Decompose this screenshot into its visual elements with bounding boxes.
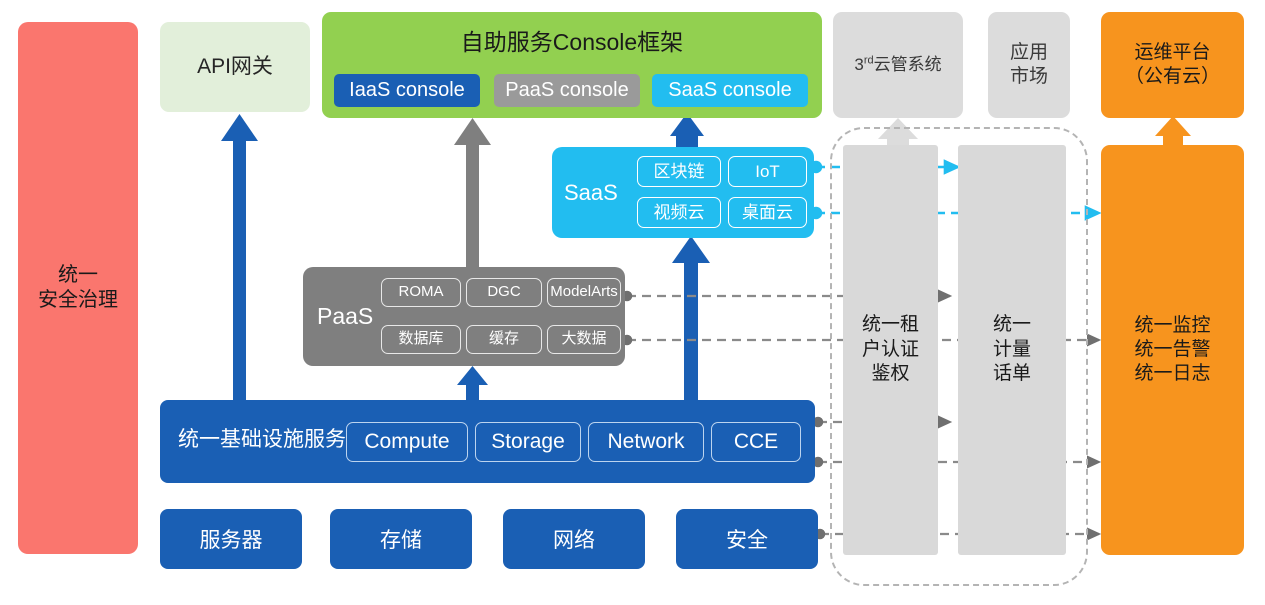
paas-layer-box[interactable]: PaaS ROMA DGC ModelArts 数据库 缓存 大数据 bbox=[303, 267, 625, 366]
infrastructure-layer-label: 统一基础设施服务 bbox=[178, 427, 346, 453]
infra-chip-cce-label: CCE bbox=[734, 429, 778, 455]
ops-platform-box[interactable]: 运维平台 （公有云） bbox=[1101, 12, 1244, 118]
arrow-infra-to-api-gateway bbox=[221, 114, 258, 400]
paas-chip-modelarts-label: ModelArts bbox=[550, 283, 618, 302]
infra-chip-network[interactable]: Network bbox=[588, 422, 704, 462]
saas-chip-desktop-cloud-label: 桌面云 bbox=[742, 202, 793, 223]
infra-chip-compute[interactable]: Compute bbox=[346, 422, 468, 462]
paas-chip-modelarts[interactable]: ModelArts bbox=[547, 278, 621, 307]
paas-console-label: PaaS console bbox=[505, 78, 628, 103]
paas-chip-cache-label: 缓存 bbox=[489, 330, 519, 349]
infra-chip-storage[interactable]: Storage bbox=[475, 422, 581, 462]
arrow-infra-to-paas bbox=[457, 366, 488, 400]
arrow-infra-to-saas bbox=[672, 236, 710, 400]
hardware-box-server-label: 服务器 bbox=[200, 524, 263, 554]
paas-chip-roma[interactable]: ROMA bbox=[381, 278, 461, 307]
hardware-box-network-label: 网络 bbox=[553, 524, 595, 554]
infrastructure-layer-box[interactable]: 统一基础设施服务 Compute Storage Network CCE bbox=[160, 400, 815, 483]
app-market-label: 应用 市场 bbox=[1010, 41, 1048, 89]
saas-console-label: SaaS console bbox=[668, 78, 791, 103]
auth-column-label: 统一租 户认证 鉴权 bbox=[862, 313, 919, 387]
iaas-console-label: IaaS console bbox=[349, 78, 465, 103]
security-governance-label: 统一 安全治理 bbox=[38, 263, 118, 313]
api-gateway-box[interactable]: API网关 bbox=[160, 22, 310, 112]
saas-layer-label: SaaS bbox=[564, 179, 618, 207]
api-gateway-label: API网关 bbox=[197, 54, 273, 80]
infra-chip-network-label: Network bbox=[607, 429, 684, 455]
hardware-box-network[interactable]: 网络 bbox=[503, 509, 645, 569]
paas-layer-label: PaaS bbox=[317, 302, 373, 331]
console-framework-box[interactable]: 自助服务Console框架 IaaS console PaaS console … bbox=[322, 12, 822, 118]
paas-chip-database-label: 数据库 bbox=[398, 330, 443, 349]
hardware-box-security-label: 安全 bbox=[726, 524, 768, 554]
hardware-box-server[interactable]: 服务器 bbox=[160, 509, 302, 569]
ops-capabilities-panel[interactable]: 统一监控 统一告警 统一日志 bbox=[1101, 145, 1244, 555]
third-party-cloud-mgmt-label: 3rd云管系统 bbox=[854, 54, 941, 75]
infra-chip-compute-label: Compute bbox=[364, 429, 449, 455]
infra-chip-cce[interactable]: CCE bbox=[711, 422, 801, 462]
ops-platform-label: 运维平台 （公有云） bbox=[1125, 41, 1220, 89]
third-party-cloud-mgmt-box[interactable]: 3rd云管系统 bbox=[833, 12, 963, 118]
app-market-box[interactable]: 应用 市场 bbox=[988, 12, 1070, 118]
arrow-saas-to-saas-console bbox=[670, 113, 704, 147]
architecture-diagram: 统一租 户认证 鉴权 统一 计量 话单 统一 安全治理 API网关 自助服务Co… bbox=[0, 0, 1265, 605]
paas-chip-bigdata[interactable]: 大数据 bbox=[547, 325, 621, 354]
paas-console-chip[interactable]: PaaS console bbox=[494, 74, 640, 107]
saas-chip-video-cloud-label: 视频云 bbox=[654, 202, 705, 223]
auth-column[interactable]: 统一租 户认证 鉴权 bbox=[843, 145, 938, 555]
paas-chip-database[interactable]: 数据库 bbox=[381, 325, 461, 354]
saas-chip-blockchain[interactable]: 区块链 bbox=[637, 156, 721, 187]
saas-chip-blockchain-label: 区块链 bbox=[654, 161, 705, 182]
paas-chip-dgc-label: DGC bbox=[487, 283, 520, 302]
iaas-console-chip[interactable]: IaaS console bbox=[334, 74, 480, 107]
paas-chip-bigdata-label: 大数据 bbox=[561, 330, 606, 349]
saas-chip-video-cloud[interactable]: 视频云 bbox=[637, 197, 721, 228]
metering-column[interactable]: 统一 计量 话单 bbox=[958, 145, 1066, 555]
ops-capabilities-label: 统一监控 统一告警 统一日志 bbox=[1134, 314, 1210, 385]
paas-chip-roma-label: ROMA bbox=[399, 283, 444, 302]
arrow-paas-to-console bbox=[454, 118, 491, 267]
hardware-box-storage[interactable]: 存储 bbox=[330, 509, 472, 569]
hardware-box-storage-label: 存储 bbox=[380, 524, 422, 554]
paas-chip-dgc[interactable]: DGC bbox=[466, 278, 542, 307]
arrow-ops-tall-to-ops-top bbox=[1155, 116, 1191, 146]
saas-layer-box[interactable]: SaaS 区块链 IoT 视频云 桌面云 bbox=[552, 147, 814, 238]
security-governance-panel[interactable]: 统一 安全治理 bbox=[18, 22, 138, 554]
metering-column-label: 统一 计量 话单 bbox=[993, 313, 1031, 387]
console-framework-title: 自助服务Console框架 bbox=[322, 28, 822, 57]
hardware-box-security[interactable]: 安全 bbox=[676, 509, 818, 569]
infra-chip-storage-label: Storage bbox=[491, 429, 565, 455]
saas-console-chip[interactable]: SaaS console bbox=[652, 74, 808, 107]
paas-chip-cache[interactable]: 缓存 bbox=[466, 325, 542, 354]
saas-chip-iot[interactable]: IoT bbox=[728, 156, 807, 187]
saas-chip-desktop-cloud[interactable]: 桌面云 bbox=[728, 197, 807, 228]
saas-chip-iot-label: IoT bbox=[755, 161, 780, 182]
